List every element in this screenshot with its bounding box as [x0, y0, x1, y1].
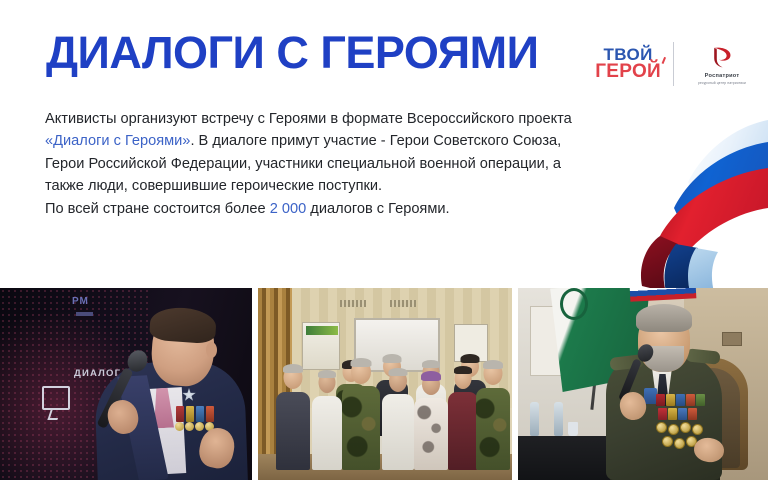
photo3-wall-socket	[722, 332, 742, 346]
photo3-table	[518, 436, 618, 480]
photo2-person-front-5-woman	[414, 374, 448, 470]
rospatriot-logo-title: Роспатриот	[705, 73, 740, 79]
photo1-ear	[206, 342, 217, 358]
photo3-water-bottle-1	[530, 402, 539, 436]
speech-bubble-icon	[42, 386, 70, 410]
photo-veterans-group	[258, 288, 512, 480]
tvoy-geroy-logo: ТВОЙ ГЕРОЙ	[595, 47, 661, 80]
tvoy-geroy-logo-line2: ГЕРОЙ	[595, 63, 661, 80]
rospatriot-logo-subtitle: ресурсный центр патриотики	[698, 81, 746, 85]
photo3-water-bottle-2	[554, 402, 563, 436]
slide-root: ДИАЛОГИ С ГЕРОЯМИ ТВОЙ ГЕРОЙ Роспатриот …	[0, 0, 768, 480]
logo-lockup: ТВОЙ ГЕРОЙ Роспатриот ресурсный центр па…	[595, 38, 758, 90]
photo2-wall-poster	[302, 322, 340, 370]
photo2-person-front-4	[382, 370, 414, 470]
paragraph-1-text-a: Активисты организуют встречу с Героями в…	[45, 111, 572, 127]
photo2-person-front-1	[276, 366, 310, 470]
photo2-person-front-2	[312, 372, 342, 470]
page-title: ДИАЛОГИ С ГЕРОЯМИ	[46, 30, 538, 75]
russian-flag-ribbon	[586, 96, 768, 292]
photo3-veteran-hair	[636, 304, 692, 332]
paragraph-2-text-a: По всей стране состоится более	[45, 201, 270, 217]
photo-speaker-on-stage: РМ ДИАЛОГ НА РАВНЫХ	[0, 288, 252, 480]
logo-divider	[673, 42, 674, 86]
flag-ribbon-svg	[586, 96, 768, 292]
paragraph-2-text-b: диалогов с Героями.	[306, 201, 449, 217]
slide-header: ДИАЛОГИ С ГЕРОЯМИ ТВОЙ ГЕРОЙ Роспатриот …	[0, 0, 768, 100]
paragraph-1: Активисты организуют встречу с Героями в…	[45, 108, 575, 198]
body-text-block: Активисты организуют встречу с Героями в…	[45, 108, 575, 220]
rospatriot-swoosh-icon	[709, 44, 735, 70]
photo3-glass	[568, 422, 578, 436]
photo-strip: РМ ДИАЛОГ НА РАВНЫХ	[0, 288, 768, 480]
paragraph-2: По всей стране состоится более 2 000 диа…	[45, 198, 575, 220]
photo2-person-front-7	[476, 362, 510, 470]
photo1-backdrop-bar	[76, 312, 93, 316]
rospatriot-logo: Роспатриот ресурсный центр патриотики	[686, 44, 758, 85]
project-name-highlight: «Диалоги с Героями»	[45, 133, 190, 149]
photo-decorated-veteran	[518, 288, 768, 480]
dialog-count-highlight: 2 000	[270, 201, 307, 217]
photo2-ceiling-vent-a	[340, 300, 366, 307]
photo2-person-front-3	[342, 360, 380, 470]
photo1-backdrop-label-rm: РМ	[72, 296, 89, 307]
photo2-person-front-6	[448, 368, 478, 470]
photo2-ceiling-vent-b	[390, 300, 416, 307]
